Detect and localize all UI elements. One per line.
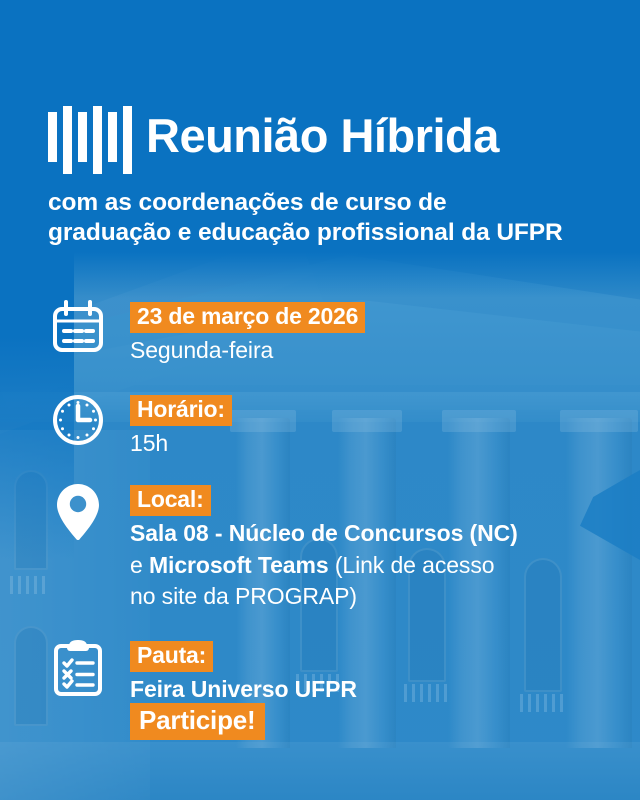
place-line-3: no site da PROGRAP) [130, 582, 618, 611]
detail-row-agenda: Pauta: Feira Universo UFPR [48, 639, 618, 704]
clipboard-checklist-icon [48, 639, 108, 697]
place-conjunction: e [130, 552, 149, 578]
call-to-action: Participe! [130, 703, 265, 740]
page-subtitle: com as coordenações de curso de graduaçã… [48, 188, 568, 248]
title-row: Reunião Híbrida [48, 100, 608, 174]
detail-row-date: 23 de março de 2026 Segunda-feira [48, 300, 618, 365]
date-weekday: Segunda-feira [130, 336, 618, 365]
detail-text-date: 23 de março de 2026 Segunda-feira [130, 300, 618, 365]
time-label-highlight: Horário: [130, 395, 232, 426]
agenda-topic: Feira Universo UFPR [130, 676, 357, 702]
detail-text-time: Horário: 15h [130, 393, 618, 458]
ufpr-bars-logo-icon [48, 100, 132, 174]
poster-header: Reunião Híbrida com as coordenações de c… [48, 100, 608, 248]
time-value: 15h [130, 429, 618, 458]
map-pin-icon [48, 483, 108, 541]
clock-icon [48, 393, 108, 447]
detail-row-place: Local: Sala 08 - Núcleo de Concursos (NC… [48, 483, 618, 611]
event-details-list: 23 de março de 2026 Segunda-feira [48, 300, 618, 704]
agenda-value: Feira Universo UFPR [130, 675, 618, 704]
agenda-label-highlight: Pauta: [130, 641, 213, 672]
detail-text-place: Local: Sala 08 - Núcleo de Concursos (NC… [130, 483, 618, 611]
detail-row-time: Horário: 15h [48, 393, 618, 458]
date-highlight: 23 de março de 2026 [130, 302, 365, 333]
detail-text-agenda: Pauta: Feira Universo UFPR [130, 639, 618, 704]
calendar-icon [48, 300, 108, 354]
place-room-name: Sala 08 - Núcleo de Concursos (NC) [130, 520, 518, 546]
event-poster: Reunião Híbrida com as coordenações de c… [0, 0, 640, 800]
place-line-2: e Microsoft Teams (Link de acesso [130, 551, 618, 580]
place-link-note-part1: (Link de acesso [329, 552, 495, 578]
page-title: Reunião Híbrida [146, 112, 499, 159]
poster-content: Reunião Híbrida com as coordenações de c… [0, 0, 640, 800]
participate-badge: Participe! [130, 703, 265, 740]
place-label-highlight: Local: [130, 485, 211, 516]
place-line-1: Sala 08 - Núcleo de Concursos (NC) [130, 519, 618, 548]
place-platform-name: Microsoft Teams [149, 552, 329, 578]
